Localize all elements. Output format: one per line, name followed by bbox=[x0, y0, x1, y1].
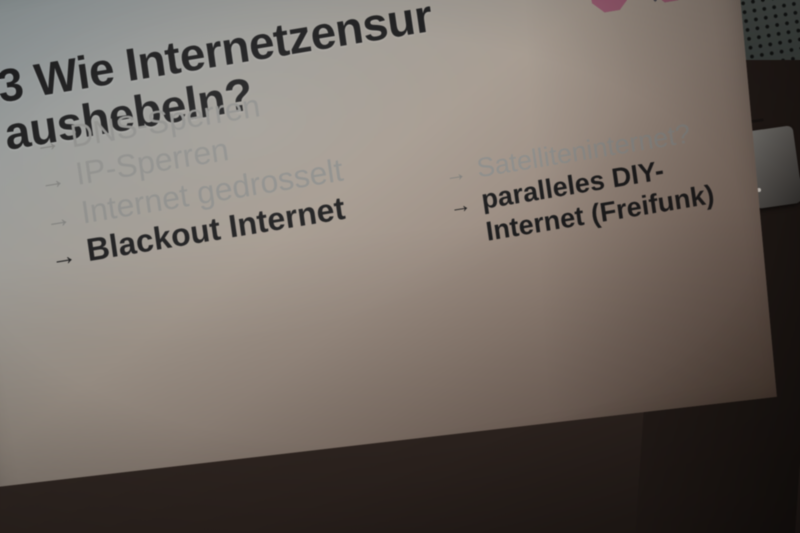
stop-sign-icon: STOP bbox=[588, 0, 631, 14]
arrow-icon: → bbox=[38, 167, 67, 197]
bullet-list-right: → Satelliteninternet? → paralleles DIY-I… bbox=[443, 110, 753, 254]
slide-content: 3 Wie Internetzensur aushebeln? STOP → S… bbox=[0, 0, 742, 459]
stop-sign-label: STOP bbox=[587, 0, 632, 15]
stop-sign-crossed-icon: STOP bbox=[648, 0, 691, 4]
arrow-icon: → bbox=[49, 243, 78, 273]
arrow-icon: → bbox=[443, 161, 467, 186]
arrow-icon: → bbox=[33, 129, 62, 159]
photo-scene: 3 Wie Internetzensur aushebeln? STOP → S… bbox=[0, 0, 800, 533]
arrow-icon: → bbox=[448, 193, 472, 218]
arrow-icon: → bbox=[44, 205, 73, 235]
